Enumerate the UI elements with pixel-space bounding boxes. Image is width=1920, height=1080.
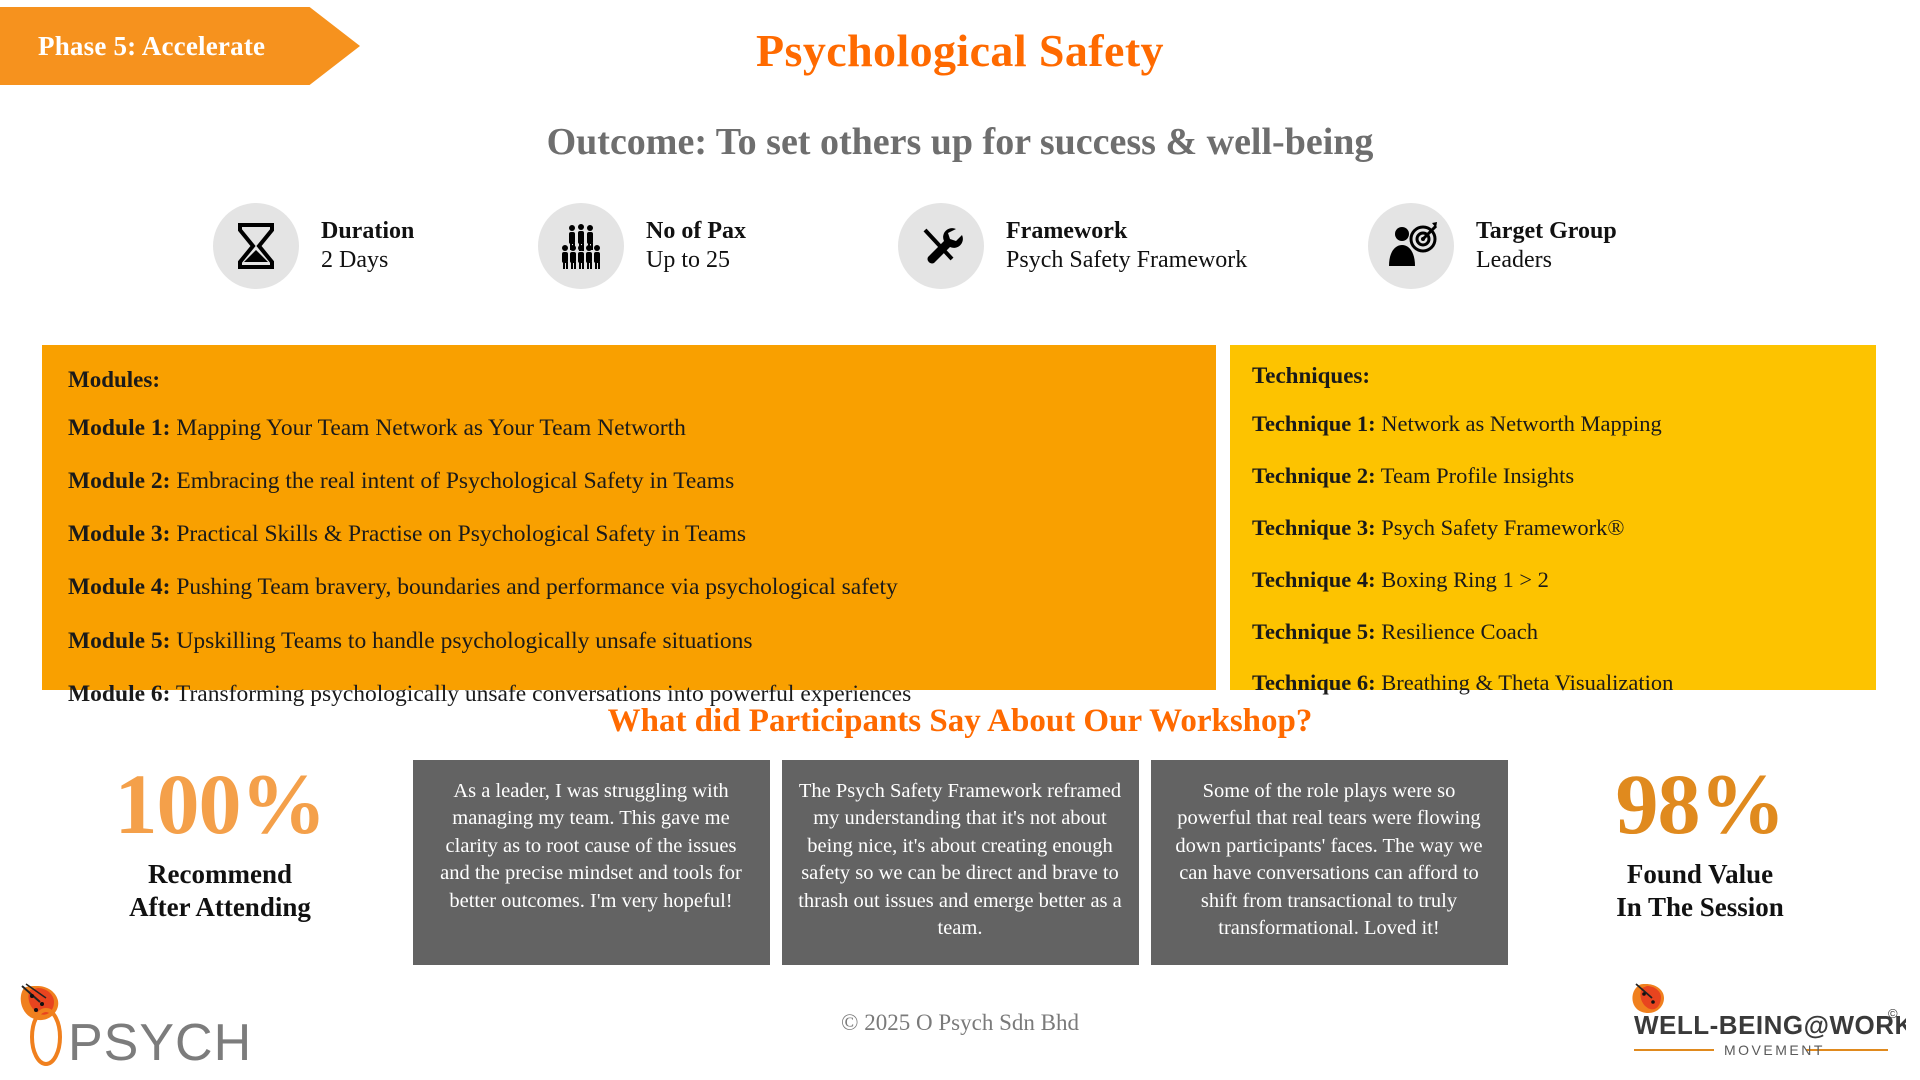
info-label: Framework xyxy=(1006,217,1247,246)
info-label: Duration xyxy=(321,217,414,246)
stat-recommend: 100% Recommend After Attending xyxy=(58,760,383,925)
wellbeing-wordmark: WELL-BEING@WORK xyxy=(1634,1010,1906,1040)
testimonial-card: Some of the role plays were so powerful … xyxy=(1151,760,1508,965)
movement-wordmark: MOVEMENT xyxy=(1724,1042,1825,1058)
info-row: Duration 2 Days xyxy=(213,203,1713,289)
module-text: Practical Skills & Practise on Psycholog… xyxy=(170,521,746,547)
technique-text: Boxing Ring 1 > 2 xyxy=(1376,567,1549,592)
module-label: Module 1: xyxy=(68,415,170,441)
o-psych-logo: PSYCH xyxy=(16,982,266,1072)
tools-icon xyxy=(898,203,984,289)
stat-caption: Found Value In The Session xyxy=(1538,858,1863,925)
technique-text: Breathing & Theta Visualization xyxy=(1376,670,1674,695)
technique-text: Resilience Coach xyxy=(1376,619,1538,644)
module-text: Upskilling Teams to handle psychological… xyxy=(170,628,752,654)
techniques-panel: Techniques: Technique 1: Network as Netw… xyxy=(1230,345,1876,690)
registered-mark: © xyxy=(1888,1006,1898,1021)
info-text-target-group: Target Group Leaders xyxy=(1476,217,1617,276)
module-text: Mapping Your Team Network as Your Team N… xyxy=(170,415,685,441)
o-psych-wordmark: PSYCH xyxy=(68,1014,252,1072)
technique-line: Technique 6: Breathing & Theta Visualiza… xyxy=(1252,669,1854,697)
technique-label: Technique 4: xyxy=(1252,567,1376,592)
info-label: Target Group xyxy=(1476,217,1617,246)
module-line: Module 5: Upskilling Teams to handle psy… xyxy=(68,627,1190,656)
technique-text: Psych Safety Framework® xyxy=(1376,515,1625,540)
info-item-pax: No of Pax Up to 25 xyxy=(538,203,898,289)
testimonial-card: As a leader, I was struggling with manag… xyxy=(413,760,770,965)
stat-found-value: 98% Found Value In The Session xyxy=(1538,760,1863,925)
technique-label: Technique 3: xyxy=(1252,515,1376,540)
testimonials-heading: What did Participants Say About Our Work… xyxy=(0,703,1920,740)
wellbeing-at-work-logo: WELL-BEING@WORK © MOVEMENT xyxy=(1616,982,1906,1072)
module-line: Module 1: Mapping Your Team Network as Y… xyxy=(68,414,1190,443)
stat-number: 100% xyxy=(58,764,383,846)
technique-label: Technique 6: xyxy=(1252,670,1376,695)
hourglass-icon xyxy=(213,203,299,289)
stat-caption-line1: Recommend xyxy=(58,858,383,891)
technique-line: Technique 3: Psych Safety Framework® xyxy=(1252,514,1854,542)
info-value: Up to 25 xyxy=(646,246,746,275)
info-label: No of Pax xyxy=(646,217,746,246)
technique-text: Network as Networth Mapping xyxy=(1376,411,1662,436)
info-text-pax: No of Pax Up to 25 xyxy=(646,217,746,276)
technique-line: Technique 5: Resilience Coach xyxy=(1252,618,1854,646)
target-person-icon xyxy=(1368,203,1454,289)
info-item-duration: Duration 2 Days xyxy=(213,203,538,289)
testimonial-card: The Psych Safety Framework reframed my u… xyxy=(782,760,1139,965)
people-group-icon xyxy=(538,203,624,289)
modules-heading: Modules: xyxy=(68,367,1190,393)
info-value: Psych Safety Framework xyxy=(1006,246,1247,275)
stat-caption-line1: Found Value xyxy=(1538,858,1863,891)
info-item-framework: Framework Psych Safety Framework xyxy=(898,203,1368,289)
stat-caption: Recommend After Attending xyxy=(58,858,383,925)
module-label: Module 2: xyxy=(68,468,170,494)
module-line: Module 2: Embracing the real intent of P… xyxy=(68,467,1190,496)
info-text-framework: Framework Psych Safety Framework xyxy=(1006,217,1247,276)
page-title: Psychological Safety xyxy=(0,24,1920,77)
page-subtitle: Outcome: To set others up for success & … xyxy=(0,120,1920,164)
testimonials-row: 100% Recommend After Attending As a lead… xyxy=(0,760,1920,975)
info-item-target-group: Target Group Leaders xyxy=(1368,203,1698,289)
info-text-duration: Duration 2 Days xyxy=(321,217,414,276)
stat-caption-line2: After Attending xyxy=(58,891,383,924)
technique-label: Technique 5: xyxy=(1252,619,1376,644)
module-label: Module 5: xyxy=(68,628,170,654)
stat-caption-line2: In The Session xyxy=(1538,891,1863,924)
technique-text: Team Profile Insights xyxy=(1376,463,1575,488)
technique-label: Technique 2: xyxy=(1252,463,1376,488)
info-value: 2 Days xyxy=(321,246,414,275)
stat-number: 98% xyxy=(1538,764,1863,846)
technique-line: Technique 4: Boxing Ring 1 > 2 xyxy=(1252,566,1854,594)
butterfly-icon xyxy=(1632,984,1664,1013)
module-label: Module 4: xyxy=(68,574,170,600)
module-line: Module 3: Practical Skills & Practise on… xyxy=(68,520,1190,549)
technique-line: Technique 2: Team Profile Insights xyxy=(1252,462,1854,490)
module-text: Embracing the real intent of Psychologic… xyxy=(170,468,734,494)
module-label: Module 3: xyxy=(68,521,170,547)
module-text: Pushing Team bravery, boundaries and per… xyxy=(170,574,897,600)
technique-line: Technique 1: Network as Networth Mapping xyxy=(1252,410,1854,438)
modules-panel: Modules: Module 1: Mapping Your Team Net… xyxy=(42,345,1216,690)
technique-label: Technique 1: xyxy=(1252,411,1376,436)
slide-root: Phase 5: Accelerate Psychological Safety… xyxy=(0,0,1920,1080)
module-line: Module 4: Pushing Team bravery, boundari… xyxy=(68,573,1190,602)
techniques-heading: Techniques: xyxy=(1252,363,1854,389)
info-value: Leaders xyxy=(1476,246,1617,275)
